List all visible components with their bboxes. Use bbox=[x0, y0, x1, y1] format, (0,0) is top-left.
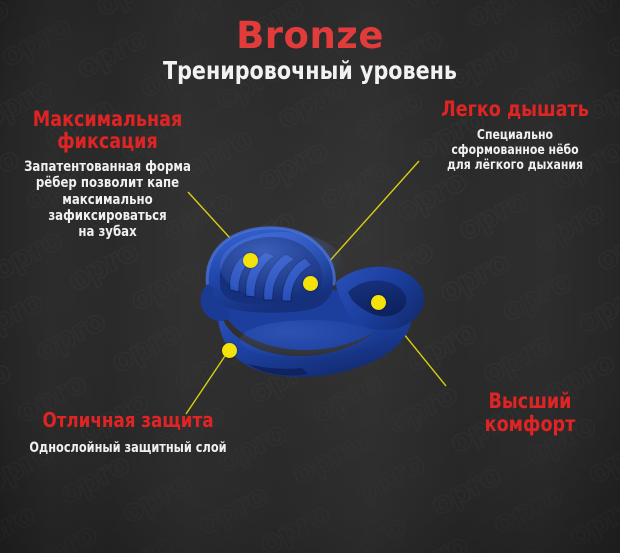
callout-breathe-body: Специально сформованное нёбо для лёгкого… bbox=[421, 128, 610, 173]
callout-breathe: Легко дышать Специально сформованное нёб… bbox=[410, 98, 620, 173]
marker-breathe[interactable] bbox=[303, 276, 318, 291]
callout-fixation-heading: Максимальная фиксация bbox=[8, 108, 208, 152]
callout-comfort-heading: Высший комфорт bbox=[456, 390, 605, 436]
marker-comfort[interactable] bbox=[371, 295, 386, 310]
callout-protection: Отличная защита Однослойный защитный сло… bbox=[8, 410, 248, 457]
page-subtitle: Тренировочный уровень bbox=[25, 56, 595, 85]
mouthguard-illustration bbox=[190, 218, 440, 393]
callout-comfort: Высший комфорт bbox=[450, 390, 610, 436]
marker-fixation[interactable] bbox=[243, 253, 258, 268]
callout-fixation: Максимальная фиксация Запатентованная фо… bbox=[0, 108, 215, 240]
callout-protection-body: Однослойный защитный слой bbox=[20, 441, 236, 457]
callout-breathe-heading: Легко дышать bbox=[417, 98, 612, 120]
marker-protection[interactable] bbox=[222, 343, 237, 358]
callout-protection-heading: Отличная защита bbox=[16, 410, 239, 431]
page-title: Bronze bbox=[0, 14, 620, 57]
callout-fixation-body: Запатентованная форма рёбер позволит кап… bbox=[11, 159, 205, 240]
infographic-poster: oprooprooprooprooprooprooprooprooproopro… bbox=[0, 0, 620, 553]
